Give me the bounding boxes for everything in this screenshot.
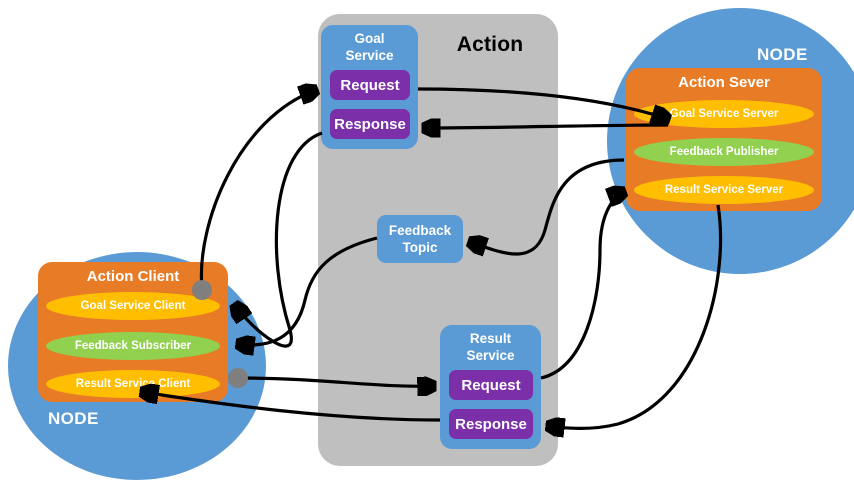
node-label-client: NODE xyxy=(48,409,99,429)
feedback-topic-box[interactable]: Feedback Topic xyxy=(377,215,463,263)
pill-feedback-publisher[interactable]: Feedback Publisher xyxy=(634,138,814,166)
action-container-title: Action xyxy=(430,33,550,57)
pill-feedback-subscriber[interactable]: Feedback Subscriber xyxy=(46,332,220,360)
result-service-request-button[interactable]: Request xyxy=(449,370,533,400)
goal-service-title: Goal Service xyxy=(321,30,418,64)
action-server-box: Action Sever Goal Service Server Feedbac… xyxy=(626,68,822,211)
result-service-title-line1: Result xyxy=(470,331,511,346)
goal-service-box: Goal Service Request Response xyxy=(321,25,418,149)
goal-service-response-button[interactable]: Response xyxy=(330,109,410,139)
pill-goal-service-server[interactable]: Goal Service Server xyxy=(634,100,814,128)
result-service-box: Result Service Request Response xyxy=(440,325,541,449)
action-server-title: Action Sever xyxy=(626,74,822,91)
result-service-title-line2: Service xyxy=(466,348,514,363)
pill-result-service-server[interactable]: Result Service Server xyxy=(634,176,814,204)
arrow-goal-client-to-goal-request xyxy=(201,90,316,288)
connector-dot-goal-service-client xyxy=(192,280,212,300)
pill-result-service-client[interactable]: Result Service Client xyxy=(46,370,220,398)
connector-dot-result-service-client xyxy=(228,368,248,388)
result-service-title: Result Service xyxy=(440,330,541,364)
node-label-server: NODE xyxy=(757,45,808,65)
goal-service-request-button[interactable]: Request xyxy=(330,70,410,100)
diagram-canvas: Action NODE Action Client Goal Service C… xyxy=(0,0,854,480)
result-service-response-button[interactable]: Response xyxy=(449,409,533,439)
feedback-topic-label: Feedback Topic xyxy=(389,222,451,256)
goal-service-title-line2: Service xyxy=(345,48,393,63)
feedback-topic-line1: Feedback xyxy=(389,223,451,238)
goal-service-title-line1: Goal xyxy=(354,31,384,46)
feedback-topic-line2: Topic xyxy=(403,240,438,255)
